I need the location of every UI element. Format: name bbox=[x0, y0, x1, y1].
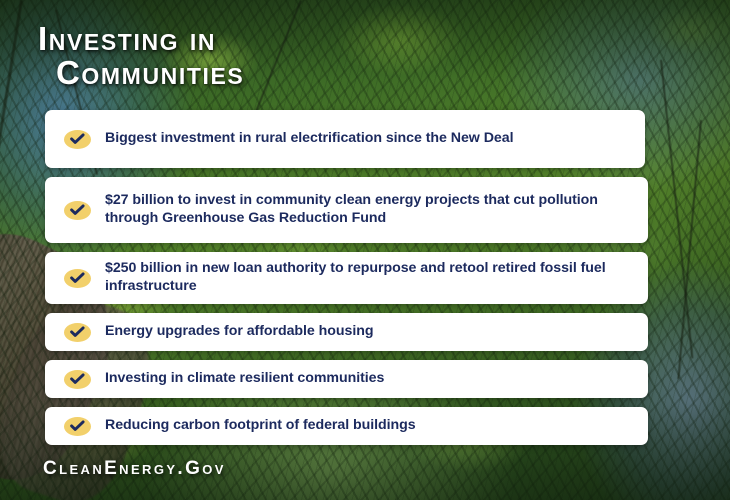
bullet-card: Reducing carbon footprint of federal bui… bbox=[45, 407, 648, 445]
check-icon bbox=[64, 417, 91, 436]
bullet-text: Investing in climate resilient communiti… bbox=[105, 370, 384, 388]
bullet-text: $250 billion in new loan authority to re… bbox=[105, 260, 634, 296]
bullet-card: $27 billion to invest in community clean… bbox=[45, 177, 648, 243]
background-branch bbox=[660, 60, 693, 359]
bullet-card: Investing in climate resilient communiti… bbox=[45, 360, 648, 398]
bullet-text: Energy upgrades for affordable housing bbox=[105, 323, 373, 341]
poster-title: Investing in Communities bbox=[38, 22, 498, 90]
bullet-text: $27 billion to invest in community clean… bbox=[105, 192, 634, 228]
check-icon bbox=[64, 323, 91, 342]
title-line-1: Investing in bbox=[38, 22, 498, 56]
title-line-2: Communities bbox=[38, 56, 498, 90]
check-icon bbox=[64, 269, 91, 288]
bullet-text: Biggest investment in rural electrificat… bbox=[105, 130, 513, 148]
bullet-card-list: Biggest investment in rural electrificat… bbox=[45, 110, 648, 445]
infographic-poster: Investing in Communities President Biden… bbox=[0, 0, 730, 500]
footer-website-url: CleanEnergy.Gov bbox=[43, 458, 226, 480]
bullet-card: $250 billion in new loan authority to re… bbox=[45, 252, 648, 304]
bullet-text: Reducing carbon footprint of federal bui… bbox=[105, 417, 416, 435]
bullet-card: Energy upgrades for affordable housing bbox=[45, 313, 648, 351]
check-icon bbox=[64, 201, 91, 220]
check-icon bbox=[64, 130, 91, 149]
check-icon bbox=[64, 370, 91, 389]
background-branch bbox=[0, 0, 23, 238]
bullet-card: Biggest investment in rural electrificat… bbox=[45, 110, 645, 168]
